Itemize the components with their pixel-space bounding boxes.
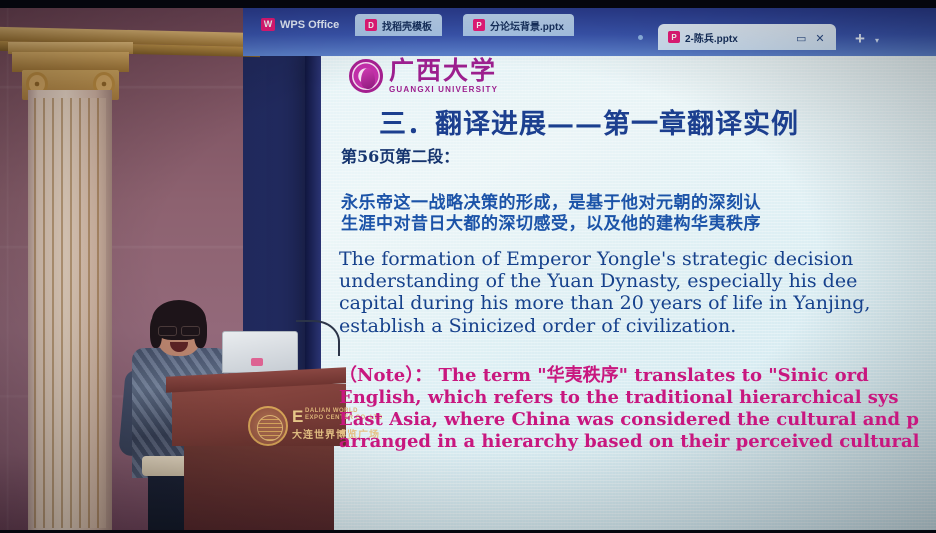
- university-name-cn: 广西大学: [389, 58, 498, 83]
- chinese-line: 永乐帝这一战略决策的形成，是基于他对元朝的深刻认: [341, 193, 936, 214]
- english-line: establish a Sinicized order of civilizat…: [339, 315, 936, 337]
- note-line: East Asia, where China was considered th…: [339, 409, 936, 431]
- university-logo: 广西大学 GUANGXI UNIVERSITY: [349, 58, 936, 94]
- slide-subtitle: 第56页第二段：: [341, 143, 936, 167]
- photo-top-border: [0, 0, 936, 8]
- english-translation-paragraph: The formation of Emperor Yongle's strate…: [339, 248, 936, 338]
- chinese-source-paragraph: 永乐帝这一战略决策的形成，是基于他对元朝的深刻认 生涯中对昔日大都的深切感受，以…: [341, 193, 936, 236]
- tab-label: 分论坛背景.pptx: [490, 18, 564, 33]
- chinese-line: 生涯中对昔日大都的深切感受，以及他的建构华夷秩序: [341, 214, 936, 235]
- plus-new-tab-icon[interactable]: +: [855, 30, 865, 47]
- tab-overflow-dot: [638, 35, 643, 40]
- powerpoint-icon: P: [473, 19, 485, 31]
- university-name-en: GUANGXI UNIVERSITY: [389, 85, 498, 94]
- tab-forum-background-pptx[interactable]: P 分论坛背景.pptx: [463, 14, 574, 36]
- podium-base: [184, 446, 334, 533]
- tab-label: 2-陈兵.pptx: [685, 30, 738, 45]
- close-icon[interactable]: ✕: [815, 34, 824, 45]
- chevron-down-icon[interactable]: ▾: [875, 37, 879, 45]
- slide-title: 三．翻译进展——第一章翻译实例: [379, 102, 936, 141]
- note-line: arranged in a hierarchy based on their p…: [339, 431, 936, 453]
- tab-find-template[interactable]: D 找稻壳模板: [355, 14, 442, 36]
- wps-office-logo[interactable]: W WPS Office: [261, 18, 339, 31]
- speaking-podium: E DALIAN WORLD EXPO CENTER CO.,LTD 大连世界博…: [166, 372, 346, 533]
- tab-label: 找稻壳模板: [382, 18, 432, 33]
- column-abacus: [12, 52, 129, 72]
- english-line: capital during his more than 20 years of…: [339, 292, 936, 314]
- wps-logo-icon: W: [261, 18, 275, 31]
- laptop-icon: [222, 331, 298, 373]
- monitor-present-icon[interactable]: ▭: [796, 34, 806, 45]
- note-line: （Note）： The term "华夷秩序" translates to "S…: [339, 365, 936, 387]
- podium-front-panel: E DALIAN WORLD EXPO CENTER CO.,LTD 大连世界博…: [172, 384, 346, 446]
- dalian-expo-globe-icon: [248, 406, 288, 446]
- ionic-column-icon: [22, 50, 119, 533]
- podium-logo-letter: E: [292, 408, 303, 425]
- english-line: understanding of the Yuan Dynasty, espec…: [339, 270, 936, 292]
- english-line: The formation of Emperor Yongle's strate…: [339, 248, 936, 270]
- note-line: English, which refers to the traditional…: [339, 387, 936, 409]
- powerpoint-icon: P: [668, 31, 680, 43]
- column-flutes: [34, 98, 106, 528]
- photo-of-lecture-hall: 广西大学 GUANGXI UNIVERSITY 三．翻译进展——第一章翻译实例 …: [0, 0, 936, 533]
- tab-action-group: ▭ ✕: [796, 34, 825, 45]
- daoke-template-icon: D: [365, 19, 377, 31]
- wps-office-label: WPS Office: [280, 19, 339, 31]
- projection-screen: 广西大学 GUANGXI UNIVERSITY 三．翻译进展——第一章翻译实例 …: [305, 48, 936, 533]
- translator-note-paragraph: （Note）： The term "华夷秩序" translates to "S…: [339, 365, 936, 453]
- guangxi-university-seal-icon: [349, 59, 383, 93]
- powerpoint-slide[interactable]: 广西大学 GUANGXI UNIVERSITY 三．翻译进展——第一章翻译实例 …: [321, 48, 936, 533]
- glasses-icon: [158, 326, 200, 334]
